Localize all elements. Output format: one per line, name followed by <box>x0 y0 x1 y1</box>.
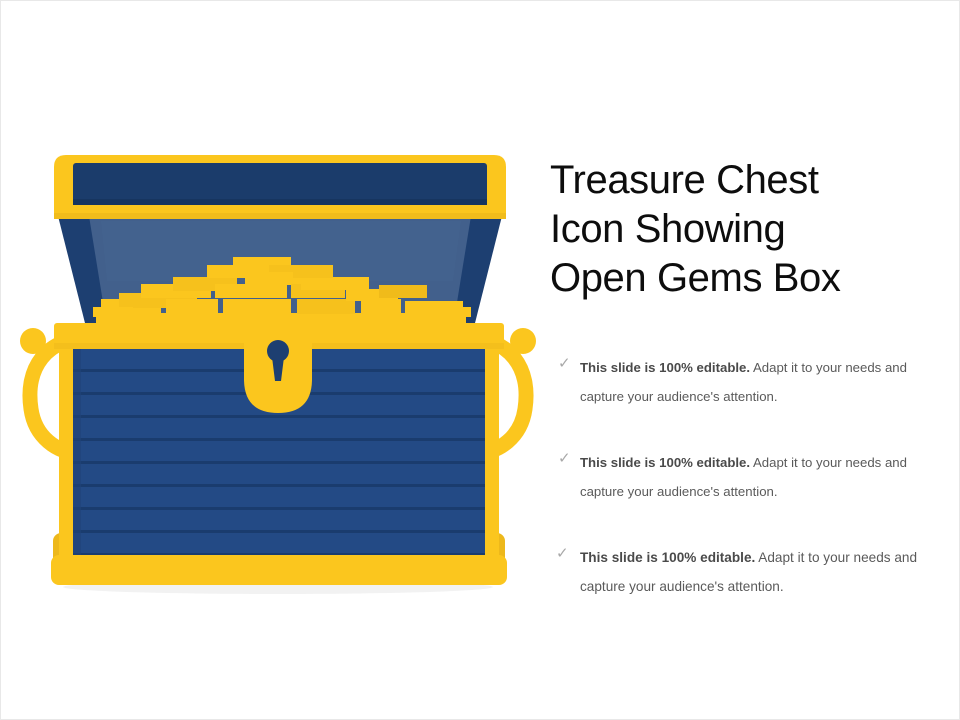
check-icon: ✓ <box>550 448 580 470</box>
treasure-chest-icon <box>1 141 556 611</box>
handle-left-knob <box>20 328 46 354</box>
plank-line <box>73 438 485 441</box>
slide-canvas: Treasure Chest Icon Showing Open Gems Bo… <box>0 0 960 720</box>
plank-line <box>73 530 485 533</box>
lid-top-panel <box>73 163 487 205</box>
gold-bar <box>301 277 369 290</box>
list-item-text: This slide is 100% editable. Adapt it to… <box>580 543 950 601</box>
body-panel-shade <box>73 346 81 571</box>
gold-bar <box>93 307 133 317</box>
gold-bar <box>297 299 355 314</box>
lid-panel-shade <box>73 199 487 205</box>
treasure-chest-illustration <box>1 141 556 611</box>
handle-right-knob <box>510 328 536 354</box>
gold-bar <box>166 299 218 314</box>
page-title: Treasure Chest Icon Showing Open Gems Bo… <box>550 156 950 303</box>
bullet-list: ✓ This slide is 100% editable. Adapt it … <box>550 353 950 601</box>
list-item-lead: This slide is 100% editable. <box>580 455 750 470</box>
gold-bar <box>223 299 291 314</box>
list-item-text: This slide is 100% editable. Adapt it to… <box>580 353 950 411</box>
list-item: ✓ This slide is 100% editable. Adapt it … <box>550 448 950 506</box>
gold-bar <box>431 307 471 317</box>
chest-lock <box>244 327 312 413</box>
list-item: ✓ This slide is 100% editable. Adapt it … <box>550 353 950 411</box>
plank-line <box>73 461 485 464</box>
check-icon: ✓ <box>550 543 580 565</box>
gold-bar <box>215 284 287 298</box>
list-item-lead: This slide is 100% editable. <box>580 550 755 565</box>
plank-line <box>73 507 485 510</box>
plank-line <box>73 415 485 418</box>
list-item-text: This slide is 100% editable. Adapt it to… <box>580 448 950 506</box>
plank-line <box>73 484 485 487</box>
list-item-lead: This slide is 100% editable. <box>580 360 750 375</box>
gold-bar <box>361 299 401 314</box>
slide-content: Treasure Chest Icon Showing Open Gems Bo… <box>550 156 950 601</box>
lid-band-shade <box>54 213 506 219</box>
body-plinth <box>51 555 507 585</box>
list-item: ✓ This slide is 100% editable. Adapt it … <box>550 543 950 601</box>
chest-body <box>51 323 507 594</box>
gold-bar <box>253 272 293 282</box>
gold-bar <box>379 285 427 298</box>
check-icon: ✓ <box>550 353 580 375</box>
